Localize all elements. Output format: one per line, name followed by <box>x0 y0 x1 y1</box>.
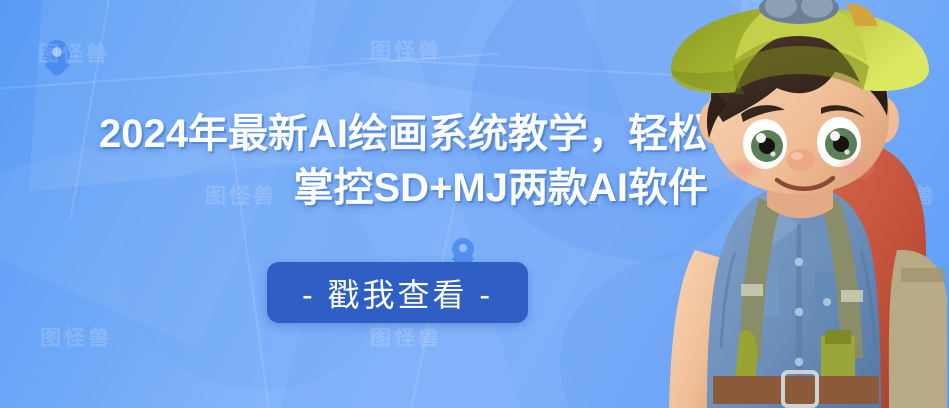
background-facet <box>0 53 561 408</box>
shirt-button <box>795 308 803 316</box>
belt <box>713 376 879 404</box>
cta-button[interactable]: - 戳我查看 - <box>267 262 528 323</box>
shirt-button <box>795 358 803 366</box>
cheek <box>833 155 877 181</box>
watermark: 图怪兽 <box>40 322 112 352</box>
promo-banner: 图怪兽 图怪兽 图怪兽 图怪兽 图怪兽 图怪兽 图怪兽 图怪兽 图怪兽 2024… <box>0 0 949 408</box>
location-pin-icon <box>44 40 70 74</box>
headline-line-1: 2024年最新AI绘画系统教学，轻松 <box>48 108 708 162</box>
nose <box>787 149 815 171</box>
headline: 2024年最新AI绘画系统教学，轻松 掌控SD+MJ两款AI软件 <box>48 108 708 215</box>
cta-button-label: - 戳我查看 - <box>302 270 493 316</box>
shirt-button <box>795 258 803 266</box>
cheek <box>721 157 765 183</box>
headline-line-2: 掌控SD+MJ两款AI软件 <box>48 162 708 216</box>
watermark: 图怪兽 <box>370 322 442 352</box>
background-hairline <box>1 53 500 90</box>
explorer-boy-illustration <box>649 0 949 408</box>
pouch-flap <box>825 330 851 344</box>
